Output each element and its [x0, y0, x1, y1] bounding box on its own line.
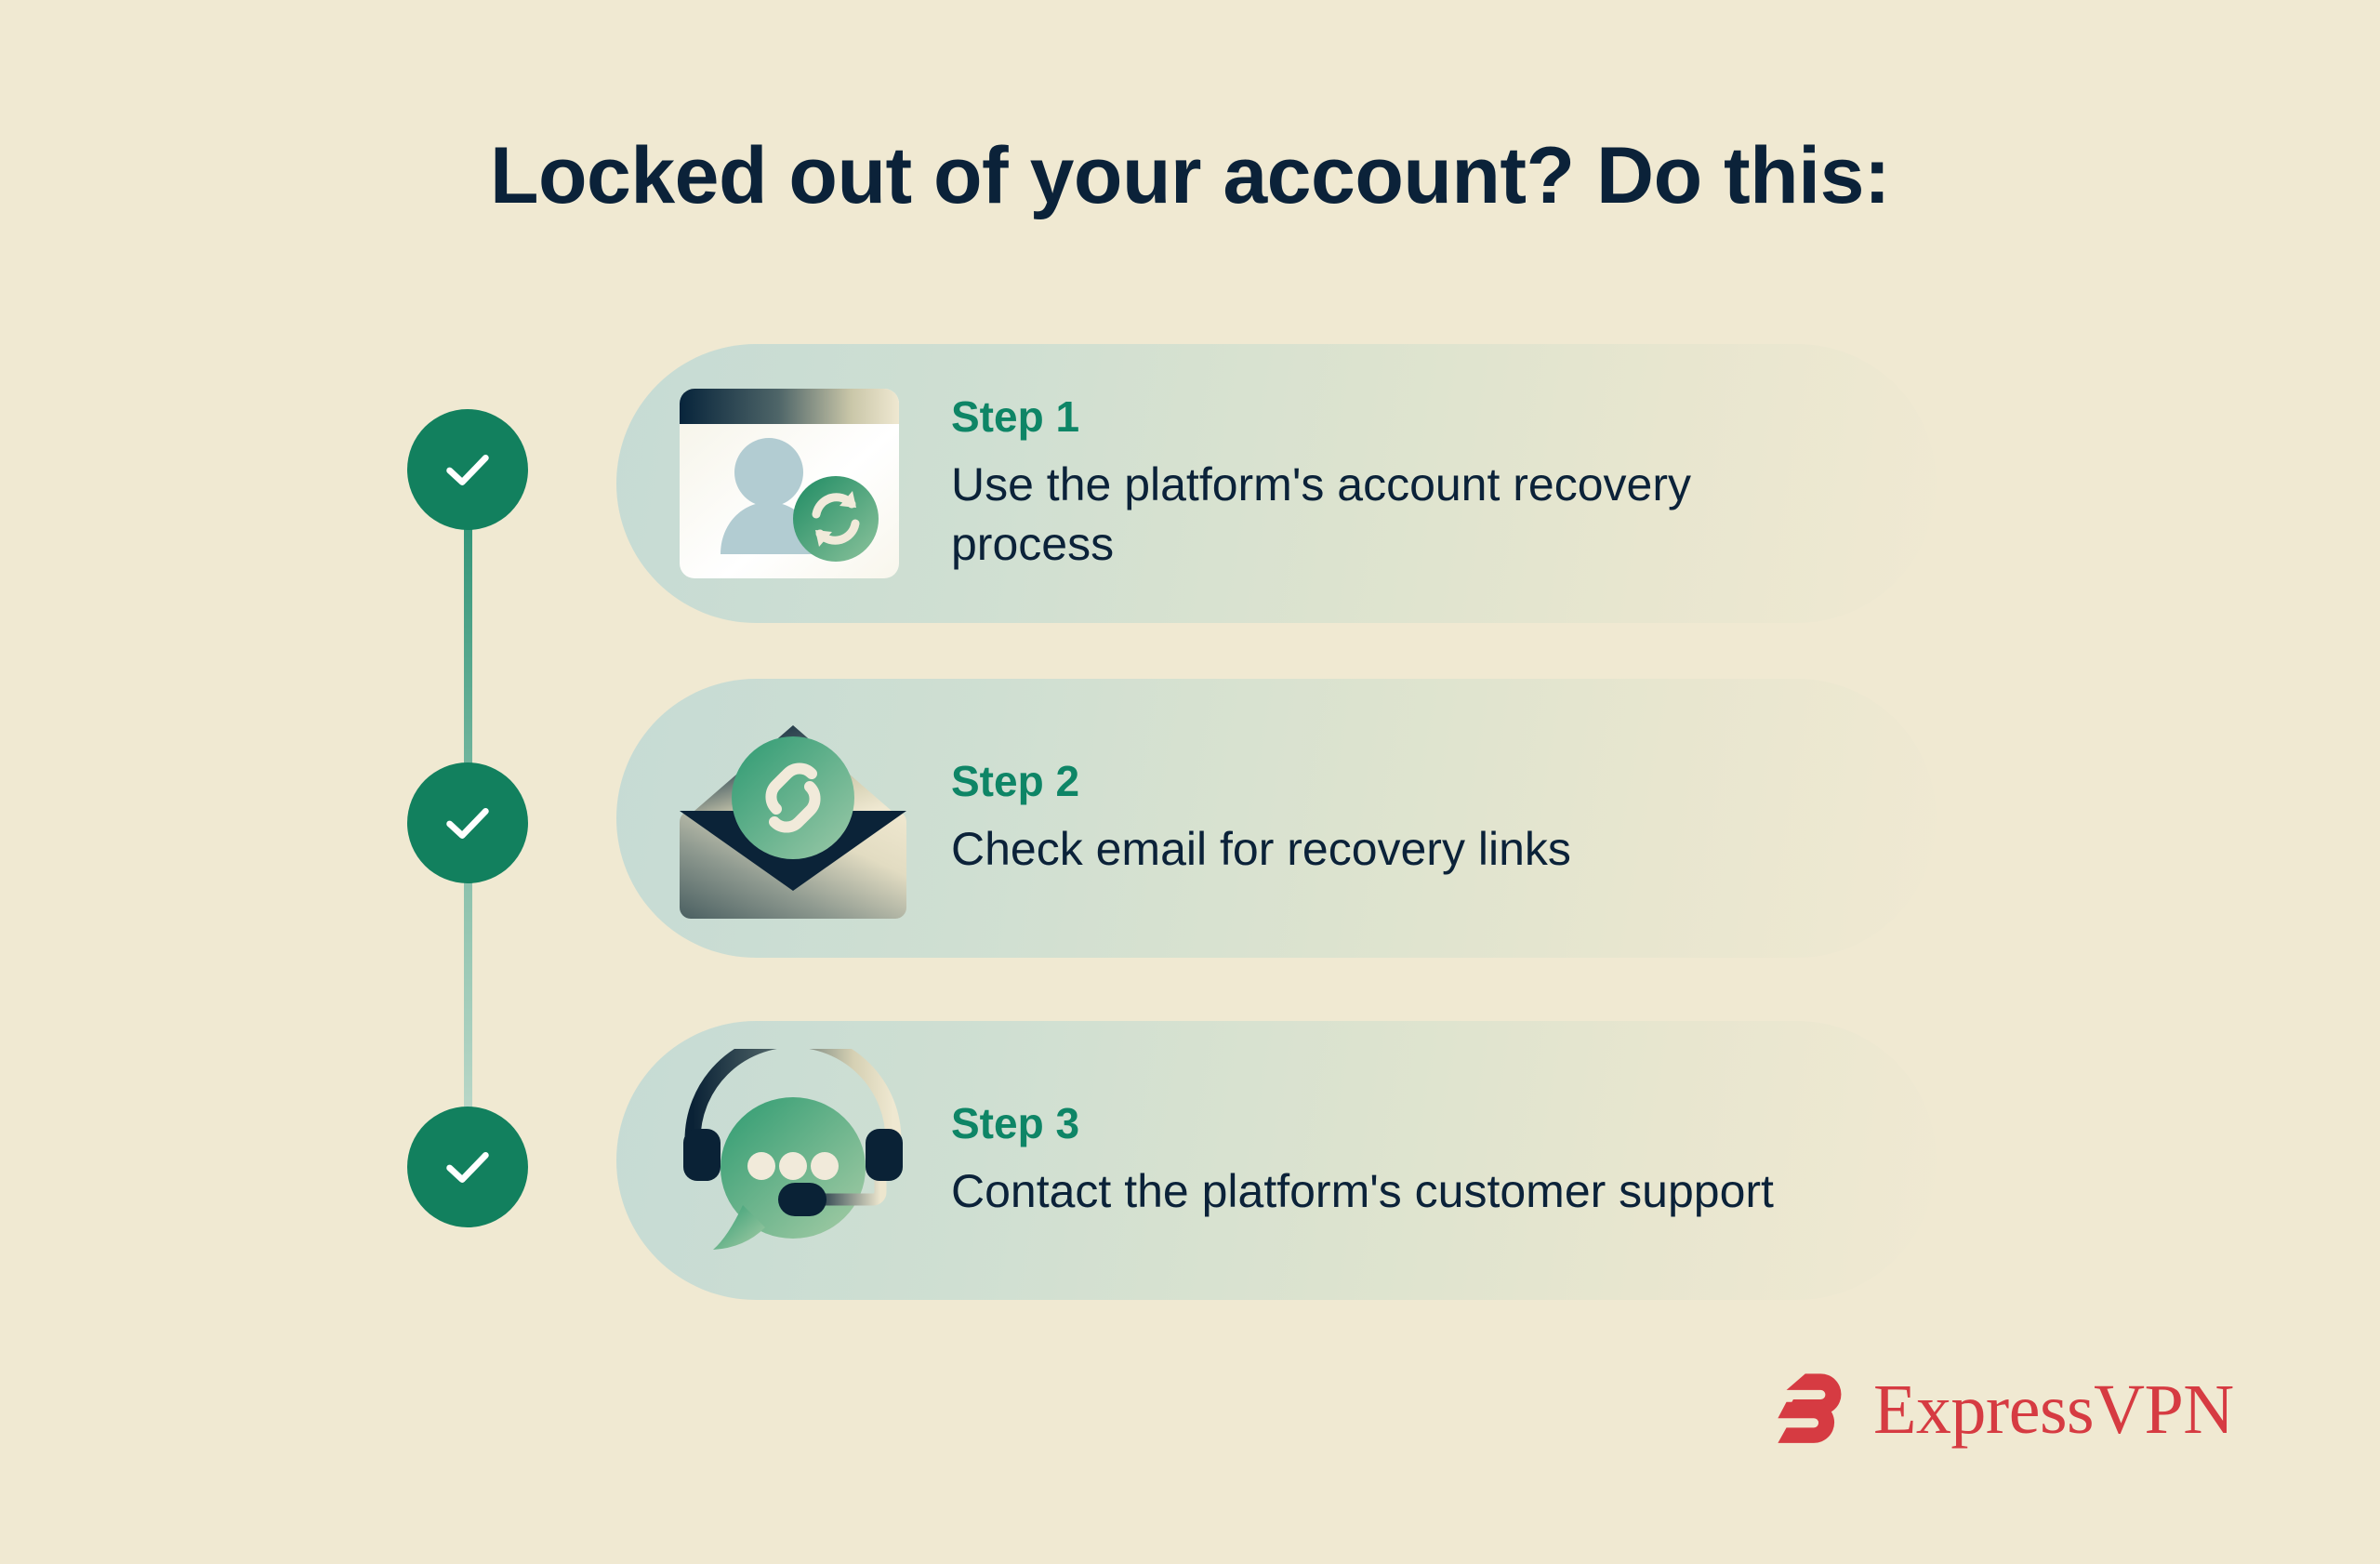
- step-1-text: Step 1 Use the platform's account recove…: [951, 393, 1825, 575]
- step-3-label: Step 3: [951, 1100, 1774, 1147]
- page-title: Locked out of your account? Do this:: [0, 130, 2380, 222]
- step-card-1[interactable]: Step 1 Use the platform's account recove…: [616, 344, 1937, 623]
- step-3-description: Contact the platform's customer support: [951, 1161, 1774, 1221]
- timeline-rail: [407, 409, 528, 1227]
- timeline-node-step-3[interactable]: [407, 1107, 528, 1227]
- open-envelope-link-icon: [654, 707, 932, 930]
- checkmark-icon: [439, 794, 496, 852]
- step-1-description: Use the platform's account recovery proc…: [951, 455, 1788, 574]
- timeline-node-step-2[interactable]: [407, 762, 528, 883]
- step-2-icon-wrap: [654, 707, 932, 930]
- expressvpn-wordmark: ExpressVPN: [1873, 1374, 2234, 1445]
- checkmark-icon: [439, 441, 496, 498]
- step-2-label: Step 2: [951, 758, 1571, 805]
- step-card-2[interactable]: Step 2 Check email for recovery links: [616, 679, 1937, 958]
- headset-chat-support-icon: [654, 1049, 932, 1272]
- step-card-3[interactable]: Step 3 Contact the platform's customer s…: [616, 1021, 1937, 1300]
- step-2-text: Step 2 Check email for recovery links: [951, 758, 1608, 880]
- step-1-label: Step 1: [951, 393, 1788, 441]
- timeline-node-step-1[interactable]: [407, 409, 528, 530]
- step-1-icon-wrap: [654, 372, 932, 595]
- step-3-icon-wrap: [654, 1049, 932, 1272]
- expressvpn-logo-icon: [1771, 1367, 1857, 1452]
- expressvpn-logo[interactable]: ExpressVPN: [1771, 1367, 2234, 1452]
- browser-account-recovery-icon: [654, 372, 932, 595]
- checkmark-icon: [439, 1138, 496, 1196]
- step-2-description: Check email for recovery links: [951, 819, 1571, 879]
- step-3-text: Step 3 Contact the platform's customer s…: [951, 1100, 1811, 1222]
